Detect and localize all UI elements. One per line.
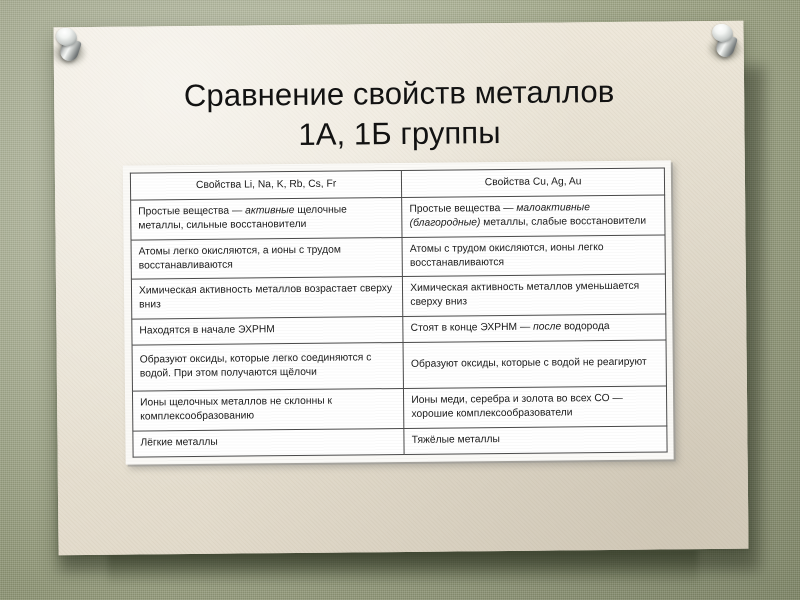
cell-right-simple-substances: Простые вещества — малоактивные (благоро…: [402, 195, 665, 237]
table-header-alkali-metals: Свойства Li, Na, K, Rb, Cs, Fr: [130, 170, 402, 199]
table-row: Лёгкие металлы Тяжёлые металлы: [133, 426, 667, 457]
comparison-table-scan: Свойства Li, Na, K, Rb, Cs, Fr Свойства …: [123, 160, 674, 464]
table-row: Ионы щелочных металлов не склонны к комп…: [132, 386, 666, 431]
cell-right-complex-formation: Ионы меди, серебра и золота во всех СО —…: [404, 386, 667, 428]
comparison-table: Свойства Li, Na, K, Rb, Cs, Fr Свойства …: [130, 167, 668, 457]
table-row: Атомы легко окисляются, а ионы с трудом …: [131, 235, 665, 280]
pushpin-left-icon: [52, 26, 90, 68]
cell-left-density: Лёгкие металлы: [133, 428, 405, 456]
cell-right-chemical-activity: Химическая активность металлов уменьшает…: [403, 274, 666, 316]
table-row: Химическая активность металлов возрастае…: [131, 274, 665, 319]
table-body: Простые вещества — активные щелочные мет…: [131, 195, 667, 457]
cell-right-ehrnm-position: Стоят в конце ЭХРНМ — после водорода: [403, 314, 666, 342]
cell-right-oxides: Образуют оксиды, которые с водой не реаг…: [403, 340, 666, 389]
cell-right-density: Тяжёлые металлы: [404, 426, 667, 454]
emphasis-text: после: [533, 322, 561, 333]
page-title-line-2: 1А, 1Б группы: [54, 110, 744, 156]
cell-right-oxidation: Атомы с трудом окисляются, ионы легко во…: [402, 235, 665, 277]
slide-canvas: Сравнение свойств металлов 1А, 1Б группы…: [0, 0, 800, 600]
cell-left-complex-formation: Ионы щелочных металлов не склонны к комп…: [132, 389, 404, 431]
page-title: Сравнение свойств металлов 1А, 1Б группы: [54, 71, 745, 157]
table-row: Образуют оксиды, которые легко соединяют…: [132, 340, 666, 391]
emphasis-text: активные: [245, 205, 294, 216]
cell-left-oxidation: Атомы легко окисляются, а ионы с трудом …: [131, 237, 403, 279]
paper-sheet: Сравнение свойств металлов 1А, 1Б группы…: [53, 21, 748, 556]
cell-left-simple-substances: Простые вещества — активные щелочные мет…: [131, 197, 403, 239]
cell-left-oxides: Образуют оксиды, которые легко соединяют…: [132, 343, 404, 392]
cell-left-ehrnm-position: Находятся в начале ЭХРНМ: [132, 317, 404, 345]
table-row: Простые вещества — активные щелочные мет…: [131, 195, 665, 240]
cell-left-chemical-activity: Химическая активность металлов возрастае…: [131, 277, 403, 319]
pushpin-right-icon: [708, 22, 746, 64]
table-header-coinage-metals: Свойства Cu, Ag, Au: [402, 168, 665, 197]
page-title-line-1: Сравнение свойств металлов: [54, 71, 744, 117]
